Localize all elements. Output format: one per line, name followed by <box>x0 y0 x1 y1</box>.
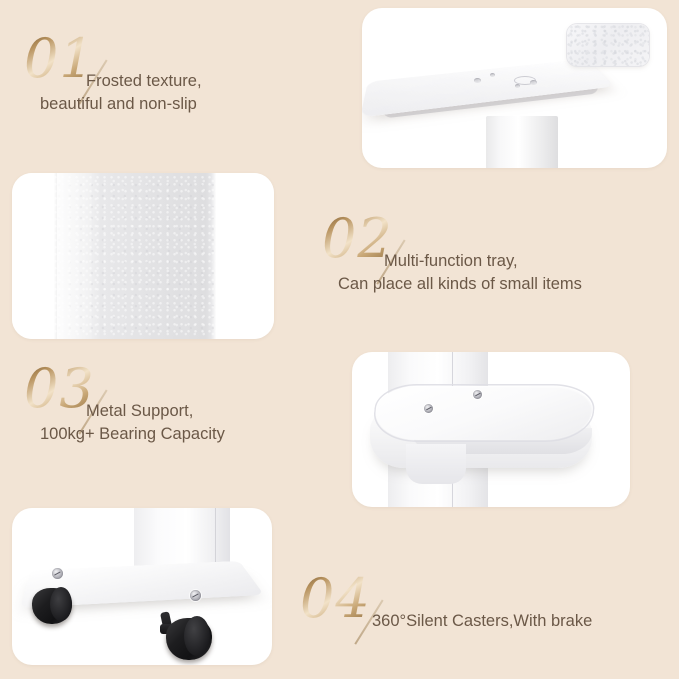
frosted-texture-swatch <box>567 24 649 66</box>
tabletop-mounting-hole <box>530 80 537 85</box>
feature-line1: 360°Silent Casters,With brake <box>372 612 592 630</box>
screw-icon <box>424 404 433 413</box>
caster-hub <box>184 616 210 656</box>
tabletop-scene <box>362 8 667 168</box>
feature-text-02: Multi-function tray, Can place all kinds… <box>384 250 582 296</box>
product-image-frosted-surface <box>12 173 274 339</box>
feature-line1: Metal Support, <box>86 402 193 420</box>
tray-mounting-bracket <box>406 444 466 484</box>
caster-hub <box>50 587 72 621</box>
feature-line1: Frosted texture, <box>86 72 202 90</box>
surface-highlight <box>57 173 94 339</box>
caster-wheel <box>30 584 78 628</box>
product-image-tabletop <box>362 8 667 168</box>
feature-text-01: Frosted texture, beautiful and non-slip <box>86 70 202 116</box>
feature-number-04: 04 <box>300 572 371 626</box>
feature-line1: Multi-function tray, <box>384 252 518 270</box>
infographic-canvas: 01 Frosted texture, beautiful and non-sl… <box>0 0 679 679</box>
screw-icon <box>473 390 482 399</box>
feature-line2: 100kg+ Bearing Capacity <box>40 423 225 446</box>
feature-number-01: 01 <box>24 32 95 86</box>
feature-line2: Can place all kinds of small items <box>338 273 582 296</box>
screw-icon <box>52 568 63 579</box>
tray-rim <box>371 384 597 442</box>
feature-text-04: 360°Silent Casters,With brake <box>372 610 592 633</box>
feature-number-02: 02 <box>322 212 393 266</box>
product-image-tray <box>352 352 630 507</box>
tabletop-mounting-hole <box>474 78 481 83</box>
table-column <box>486 116 558 168</box>
feature-number-03: 03 <box>24 362 95 416</box>
caster-wheel-with-brake <box>160 612 216 664</box>
feature-line2: beautiful and non-slip <box>40 93 202 116</box>
frosted-surface <box>12 173 274 339</box>
tabletop-mounting-hole <box>490 73 495 77</box>
tabletop-mounting-hole <box>515 84 520 88</box>
screw-icon <box>190 590 201 601</box>
product-image-casters <box>12 508 272 665</box>
base-center-post <box>134 508 230 570</box>
feature-text-03: Metal Support, 100kg+ Bearing Capacity <box>86 400 225 446</box>
tabletop-surface <box>362 59 615 118</box>
